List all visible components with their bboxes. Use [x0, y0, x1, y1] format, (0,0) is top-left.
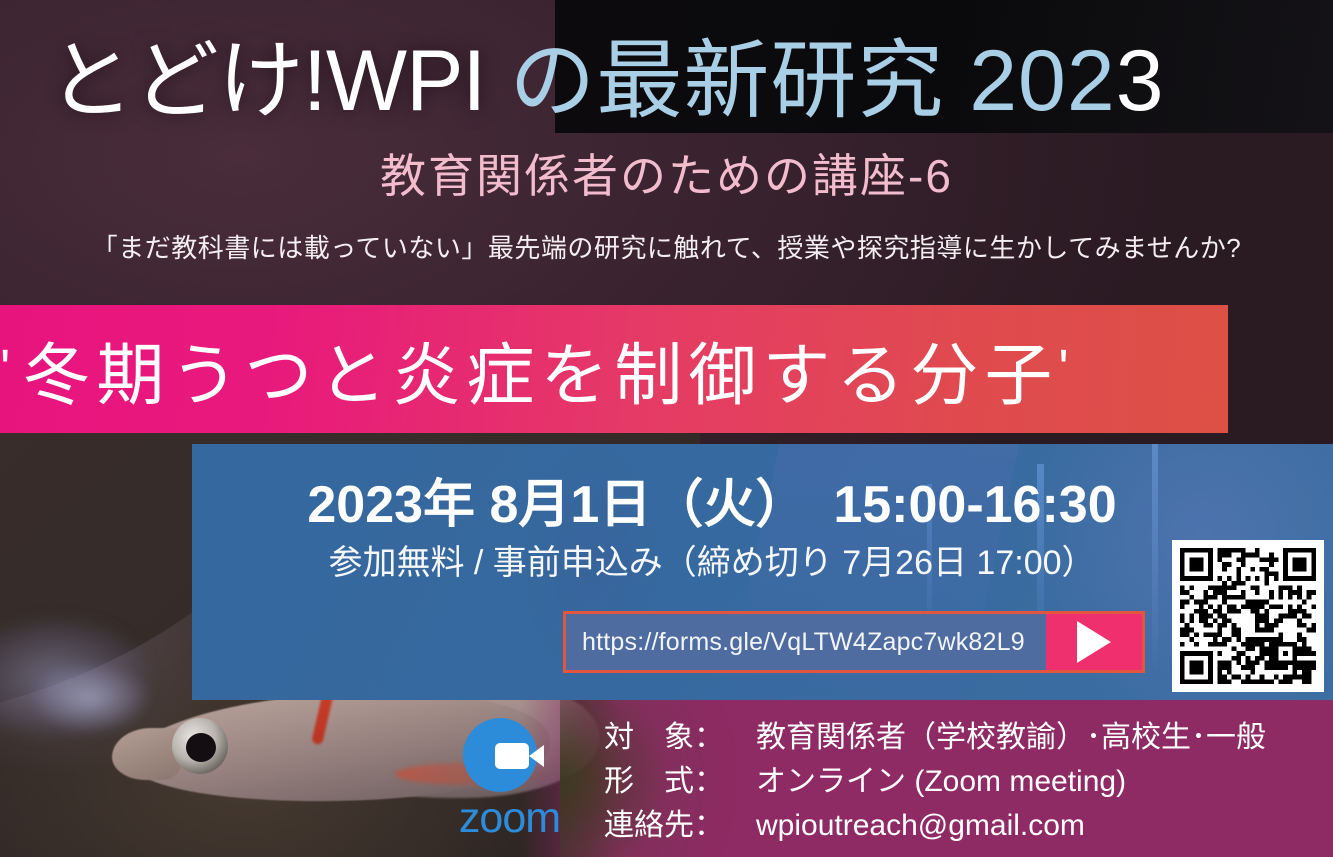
fish-snout: [112, 728, 182, 780]
theme-title: 冬期うつと炎症を制御する分子: [22, 320, 1058, 419]
info-value: 教育関係者（学校教諭）･高校生･一般: [756, 716, 1266, 760]
zoom-logo: zoom: [447, 718, 572, 843]
page-title: とどけ!WPI: [48, 10, 485, 135]
fish-pupil: [186, 733, 216, 762]
registration-url-bar[interactable]: https://forms.gle/VqLTW4Zapc7wk82L9: [563, 611, 1145, 673]
event-info-list: 対 象： 教育関係者（学校教諭）･高校生･一般 形 式： オンライン (Zoom…: [604, 716, 1266, 848]
theme-banner: ' 冬期うつと炎症を制御する分子 ': [0, 305, 1228, 433]
play-button[interactable]: [1046, 614, 1142, 670]
info-row-format: 形 式： オンライン (Zoom meeting): [604, 760, 1266, 804]
info-row-audience: 対 象： 教育関係者（学校教諭）･高校生･一般: [604, 716, 1266, 760]
registration-url-text[interactable]: https://forms.gle/VqLTW4Zapc7wk82L9: [566, 614, 1046, 670]
info-value: オンライン (Zoom meeting): [756, 760, 1126, 804]
page-title-year-tail: 3: [1116, 33, 1165, 129]
zoom-wordmark: zoom: [447, 794, 572, 843]
page-title-accent: の最新研究 2023: [509, 10, 1164, 135]
info-label: 形 式：: [604, 760, 756, 804]
info-label: 対 象：: [604, 716, 756, 760]
poster-title-row: とどけ!WPI の最新研究 2023: [0, 16, 1333, 128]
theme-open-quote: ': [0, 338, 10, 400]
theme-close-quote: ': [1058, 338, 1068, 400]
info-row-contact: 連絡先： wpioutreach@gmail.com: [604, 804, 1266, 848]
poster-tagline: 「まだ教科書には載っていない」最先端の研究に触れて、授業や探究指導に生かしてみま…: [0, 228, 1333, 265]
zoom-video-camera-icon: [463, 718, 537, 792]
camera-lens-shape: [529, 745, 544, 767]
event-datetime: 2023年 8月1日（火） 15:00-16:30: [192, 462, 1232, 537]
info-label: 連絡先：: [604, 804, 756, 848]
camera-body-shape: [495, 743, 529, 769]
qr-code-icon: [1180, 548, 1316, 684]
page-title-accent-text: の最新研究 202: [509, 33, 1115, 129]
background-bokeh-fish-2: [30, 663, 150, 733]
poster-subtitle: 教育関係者のための講座-6: [0, 140, 1333, 206]
qr-code-box[interactable]: [1172, 540, 1324, 692]
event-fee-deadline: 参加無料 / 事前申込み（締め切り 7月26日 17:00）: [192, 535, 1232, 584]
event-poster: とどけ!WPI の最新研究 2023 教育関係者のための講座-6 「まだ教科書に…: [0, 0, 1333, 857]
info-value[interactable]: wpioutreach@gmail.com: [756, 804, 1085, 848]
play-triangle-icon: [1077, 621, 1111, 663]
